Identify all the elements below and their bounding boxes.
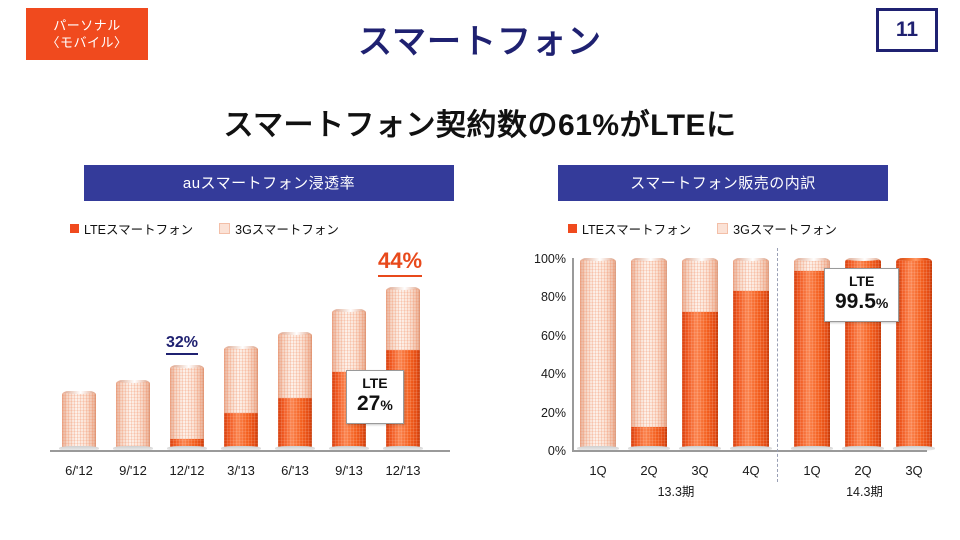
bar-3/'13	[224, 346, 258, 450]
xaxis-label-6/'12: 6/'12	[50, 463, 108, 478]
legend-item-lte: LTEスマートフォン	[568, 219, 691, 238]
bar-segment-3g	[62, 391, 96, 450]
page-subtitle: スマートフォン契約数の61%がLTEに	[0, 100, 960, 144]
legend-item-3g: 3Gスマートフォン	[717, 219, 837, 238]
yaxis-tick-0%: 0%	[520, 444, 566, 458]
legend-left: LTEスマートフォン 3Gスマートフォン	[40, 219, 460, 238]
bar-segment-lte	[733, 291, 769, 450]
page-number-badge: 11	[876, 8, 938, 52]
yaxis-tick-20%: 20%	[520, 406, 566, 420]
bar-segment-3g	[631, 258, 667, 427]
yaxis-tick-100%: 100%	[520, 252, 566, 266]
slide: パーソナル 〈モバイル〉 スマートフォン 11 スマートフォン契約数の61%がL…	[0, 0, 960, 540]
page-title: スマートフォン	[0, 14, 960, 63]
bar-1Q-0	[580, 258, 616, 450]
legend-item-lte: LTEスマートフォン	[70, 219, 193, 238]
group-label-right: 14.3期	[788, 481, 941, 500]
callout-label: LTE	[835, 273, 888, 290]
bar-segment-3g	[332, 309, 366, 372]
legend-label-lte: LTEスマートフォン	[84, 219, 193, 238]
bar-segment-3g	[733, 258, 769, 291]
panel-penetration-heading: auスマートフォン浸透率	[84, 165, 454, 201]
panel-penetration: auスマートフォン浸透率 LTEスマートフォン 3Gスマートフォン 6/'129…	[40, 165, 460, 492]
xaxis-label-9/'12: 9/'12	[104, 463, 162, 478]
chart-sales: 0%20%40%60%80%100%1Q2Q3Q4Q1Q2Q3Q13.3期14.…	[520, 242, 940, 492]
chart-penetration: 6/'129/'1212/'123/'136/'139/'1312/'1332%…	[40, 242, 460, 492]
xaxis-label-12/'12: 12/'12	[158, 463, 216, 478]
panel-sales-breakdown: スマートフォン販売の内訳 LTEスマートフォン 3Gスマートフォン 0%20%4…	[520, 165, 940, 492]
bar-2Q-1	[631, 258, 667, 450]
bar-segment-lte	[682, 312, 718, 450]
xaxis-label-1Q-4: 1Q	[784, 463, 840, 478]
xaxis-label-3Q-2: 3Q	[672, 463, 728, 478]
xaxis-label-1Q-0: 1Q	[570, 463, 626, 478]
chart-baseline	[50, 450, 450, 452]
xaxis-label-3Q-6: 3Q	[886, 463, 942, 478]
panel-sales-heading: スマートフォン販売の内訳	[558, 165, 888, 201]
xaxis-label-2Q-1: 2Q	[621, 463, 677, 478]
bar-segment-lte	[896, 259, 932, 450]
chart-y-axis	[572, 258, 574, 450]
bar-segment-3g	[386, 287, 420, 350]
yaxis-tick-40%: 40%	[520, 367, 566, 381]
legend-label-3g: 3Gスマートフォン	[235, 219, 339, 238]
bar-segment-3g	[116, 380, 150, 449]
legend-swatch-3g-icon	[717, 223, 728, 234]
callout-unit: %	[380, 397, 392, 413]
bar-12/'12	[170, 365, 204, 450]
xaxis-label-12/'13: 12/'13	[374, 463, 432, 478]
callout-lte-sales: LTE99.5%	[824, 268, 899, 322]
bar-segment-3g	[580, 258, 616, 450]
callout-label: LTE	[357, 375, 393, 392]
xaxis-label-9/'13: 9/'13	[320, 463, 378, 478]
chart-baseline	[572, 450, 927, 452]
bar-4Q-3	[733, 258, 769, 450]
callout-unit: %	[876, 295, 888, 311]
xaxis-label-4Q-3: 4Q	[723, 463, 779, 478]
legend-swatch-lte-icon	[70, 224, 79, 233]
annotation-32-percent: 32%	[166, 334, 198, 355]
xaxis-label-6/'13: 6/'13	[266, 463, 324, 478]
xaxis-label-3/'13: 3/'13	[212, 463, 270, 478]
bar-9/'12	[116, 380, 150, 450]
fiscal-year-divider	[777, 248, 778, 482]
legend-swatch-3g-icon	[219, 223, 230, 234]
legend-right: LTEスマートフォン 3Gスマートフォン	[520, 219, 940, 238]
callout-value: 27%	[357, 392, 393, 417]
bar-segment-3g	[278, 332, 312, 399]
yaxis-tick-60%: 60%	[520, 329, 566, 343]
bar-3Q-2	[682, 258, 718, 450]
bar-segment-3g	[170, 365, 204, 439]
annotation-44-percent: 44%	[378, 248, 422, 277]
callout-lte-penetration: LTE27%	[346, 370, 404, 424]
group-label-left: 13.3期	[574, 481, 778, 500]
legend-label-3g: 3Gスマートフォン	[733, 219, 837, 238]
bar-6/'13	[278, 332, 312, 450]
bar-segment-lte	[278, 398, 312, 450]
yaxis-tick-80%: 80%	[520, 290, 566, 304]
callout-value: 99.5%	[835, 290, 888, 315]
xaxis-label-2Q-5: 2Q	[835, 463, 891, 478]
legend-item-3g: 3Gスマートフォン	[219, 219, 339, 238]
bar-3Q-6	[896, 258, 932, 450]
bar-segment-3g	[682, 258, 718, 312]
legend-label-lte: LTEスマートフォン	[582, 219, 691, 238]
bar-12/'13	[386, 287, 420, 450]
bar-segment-3g	[224, 346, 258, 413]
bar-segment-lte	[224, 413, 258, 450]
legend-swatch-lte-icon	[568, 224, 577, 233]
bar-6/'12	[62, 391, 96, 450]
